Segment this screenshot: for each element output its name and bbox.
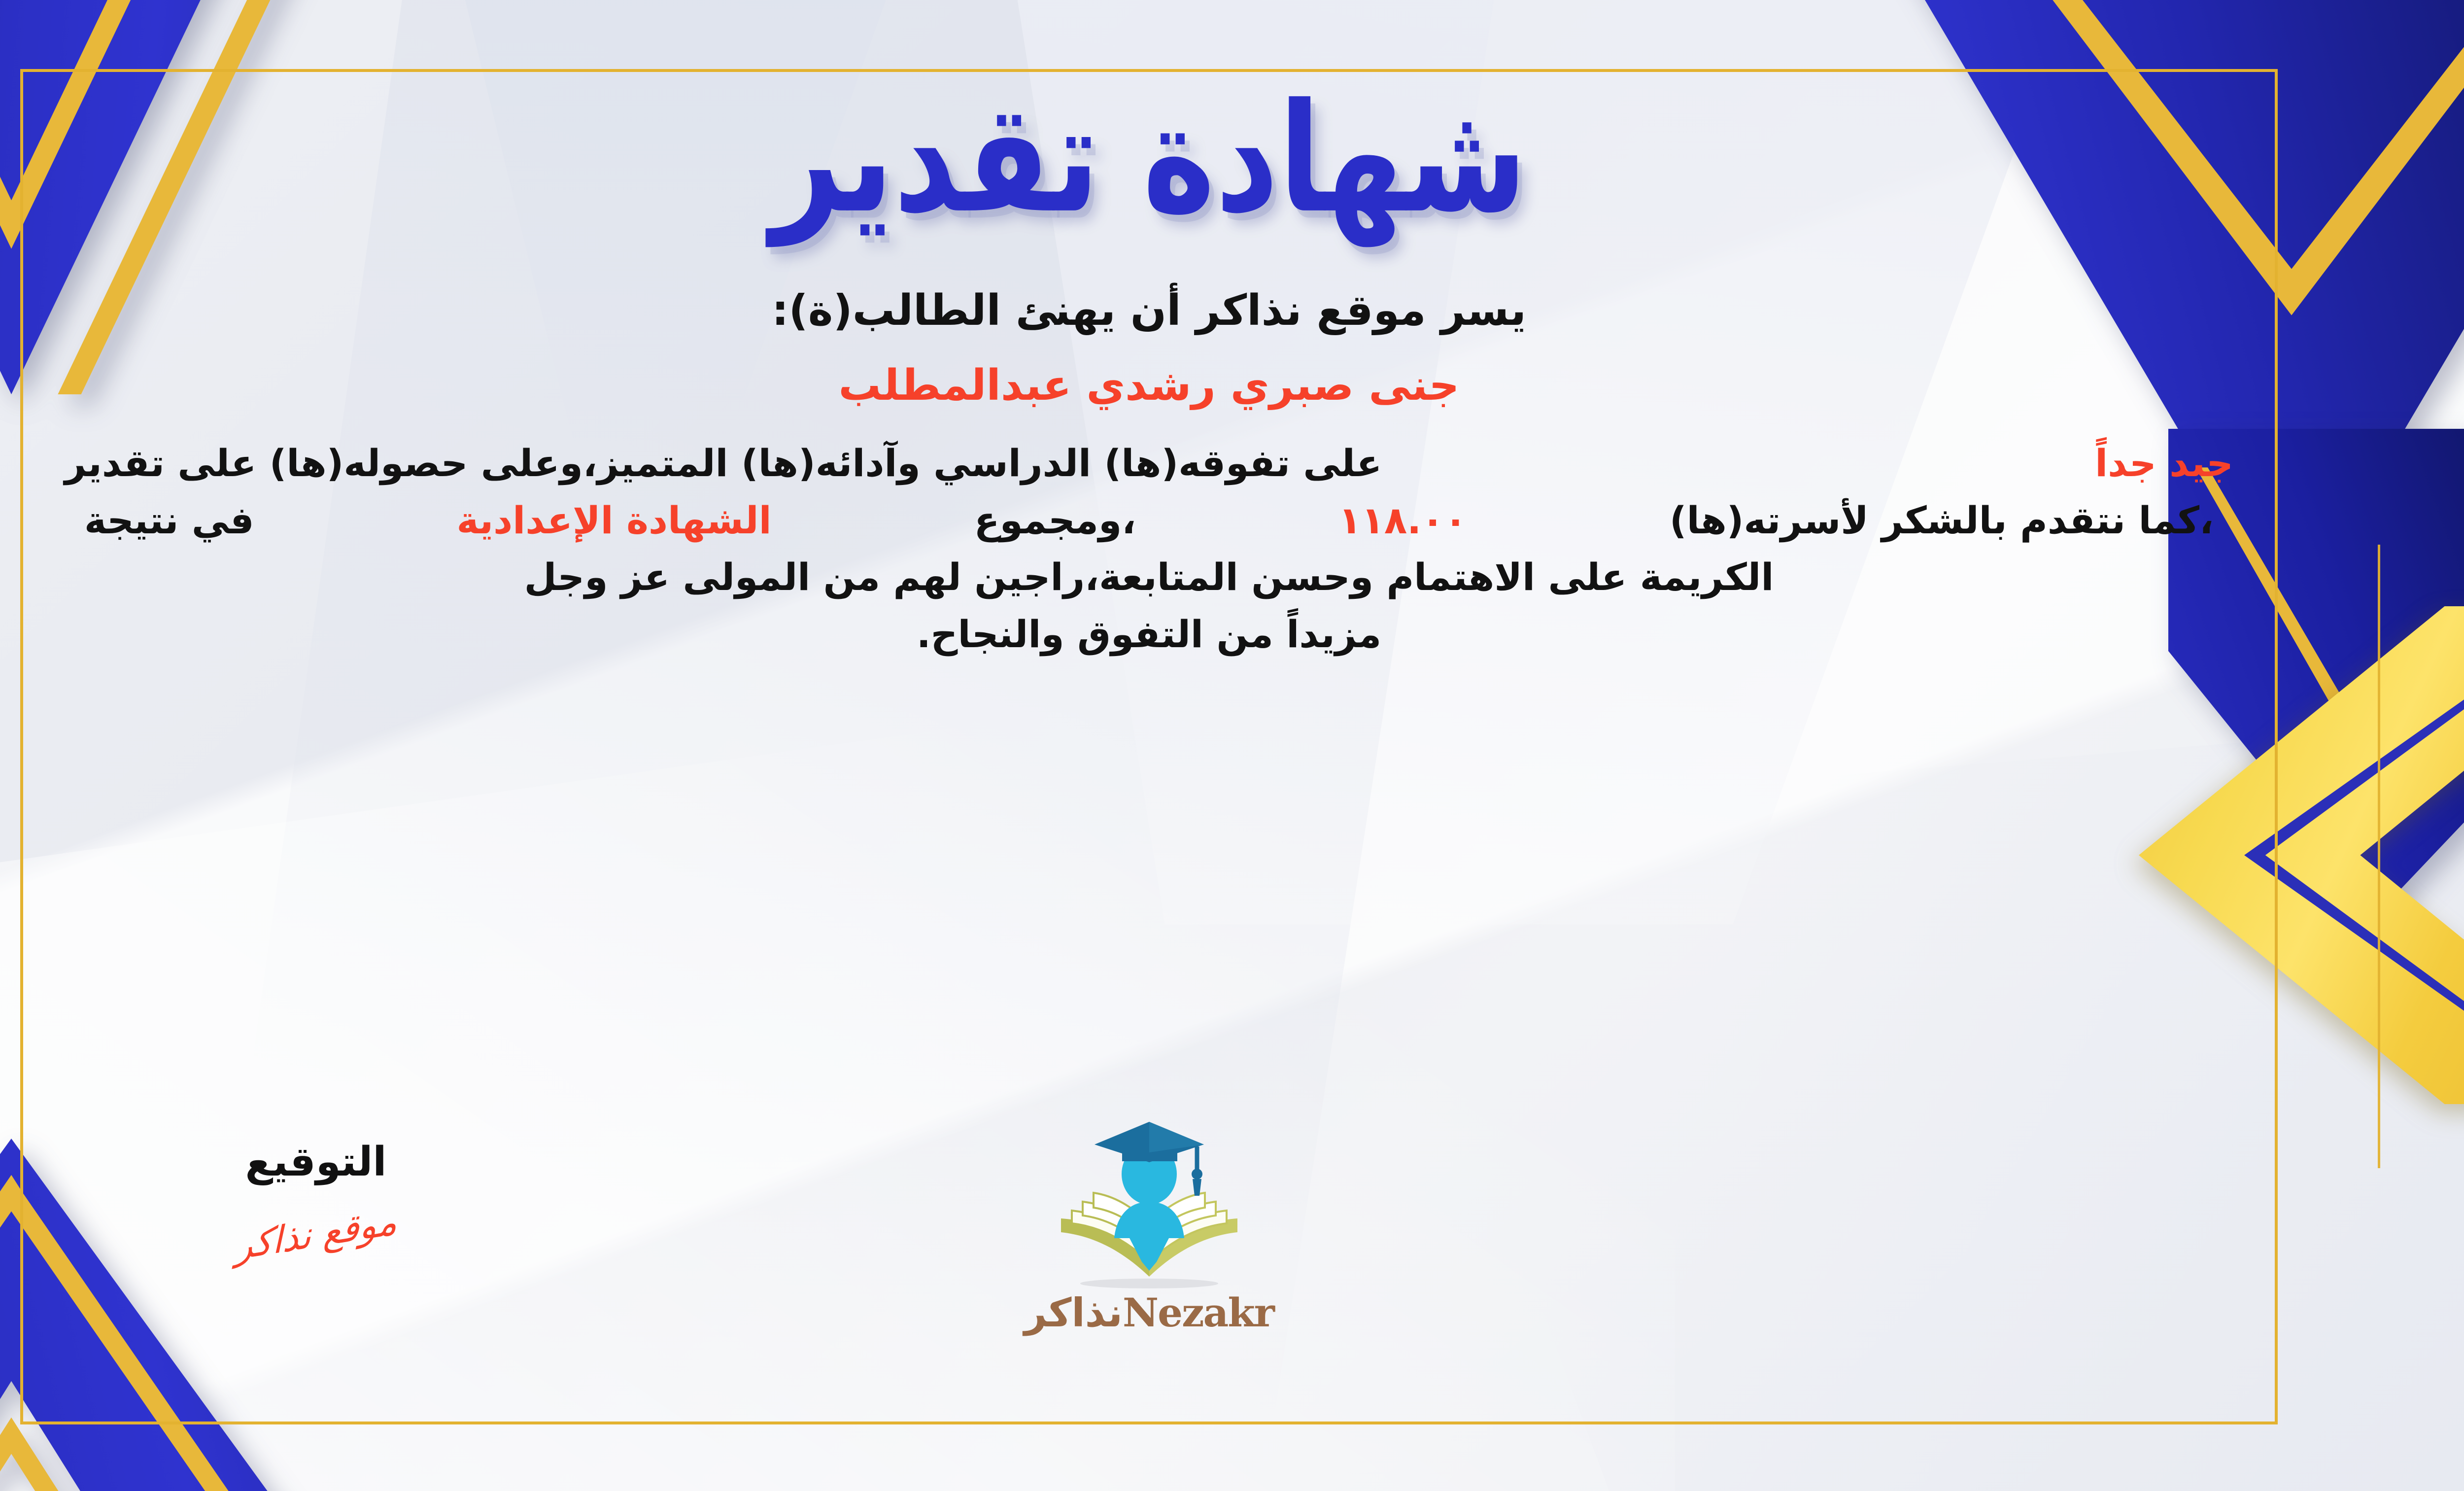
body-paragraph: جيد جداً على تفوقه(ها) الدراسي وآدائه(ها…: [65, 435, 2233, 662]
logo-wordmark: Nezakrنذاكر: [996, 1289, 1302, 1336]
graduate-book-logo-icon: [1043, 1114, 1255, 1296]
logo-arabic-text: نذاكر: [1024, 1290, 1123, 1336]
body-line-6: مزيداً من التفوق والنجاح.: [65, 606, 2233, 663]
body-line-5: الكريمة على الاهتمام وحسن المتابعة،راجين…: [65, 549, 2233, 606]
signature-label: التوقيع: [178, 1139, 454, 1185]
logo-latin-text: Nezakr: [1123, 1289, 1274, 1336]
gold-vertical-accent-line: [2378, 545, 2380, 1168]
result-of-label: في نتيجة: [84, 492, 254, 549]
certificate-title: شهادة تقدير: [771, 74, 1527, 243]
certificate-canvas: شهادة تقدير يسر موقع نذاكر أن يهنئ الطال…: [0, 0, 2464, 1491]
intro-line: يسر موقع نذاكر أن يهنئ الطالب(ة):: [772, 286, 1526, 335]
body-line-3-text: على تفوقه(ها) الدراسي وآدائه(ها) المتميز…: [65, 435, 1382, 492]
body-line-4: ،كما نتقدم بالشكر لأسرته(ها) ١١٨.٠٠ ،ومج…: [65, 492, 2233, 549]
student-name: جنى صبري رشدي عبدالمطلب: [839, 361, 1460, 410]
signature-script: موقع نذاكر: [235, 1200, 397, 1269]
total-score-value: ١١٨.٠٠: [1338, 492, 1467, 549]
thanks-family-text: ،كما نتقدم بالشكر لأسرته(ها): [1670, 492, 2214, 549]
certificate-name-value: الشهادة الإعدادية: [457, 492, 772, 549]
grade-value: جيد جداً: [2095, 435, 2233, 492]
signature-block: التوقيع موقع نذاكر: [178, 1139, 454, 1255]
brand-logo: Nezakrنذاكر: [996, 1114, 1302, 1336]
certificate-footer: التوقيع موقع نذاكر: [20, 1109, 2278, 1424]
total-label: ،ومجموع: [974, 492, 1136, 549]
body-line-3: جيد جداً على تفوقه(ها) الدراسي وآدائه(ها…: [65, 435, 2233, 492]
certificate-content: شهادة تقدير يسر موقع نذاكر أن يهنئ الطال…: [20, 69, 2278, 1424]
